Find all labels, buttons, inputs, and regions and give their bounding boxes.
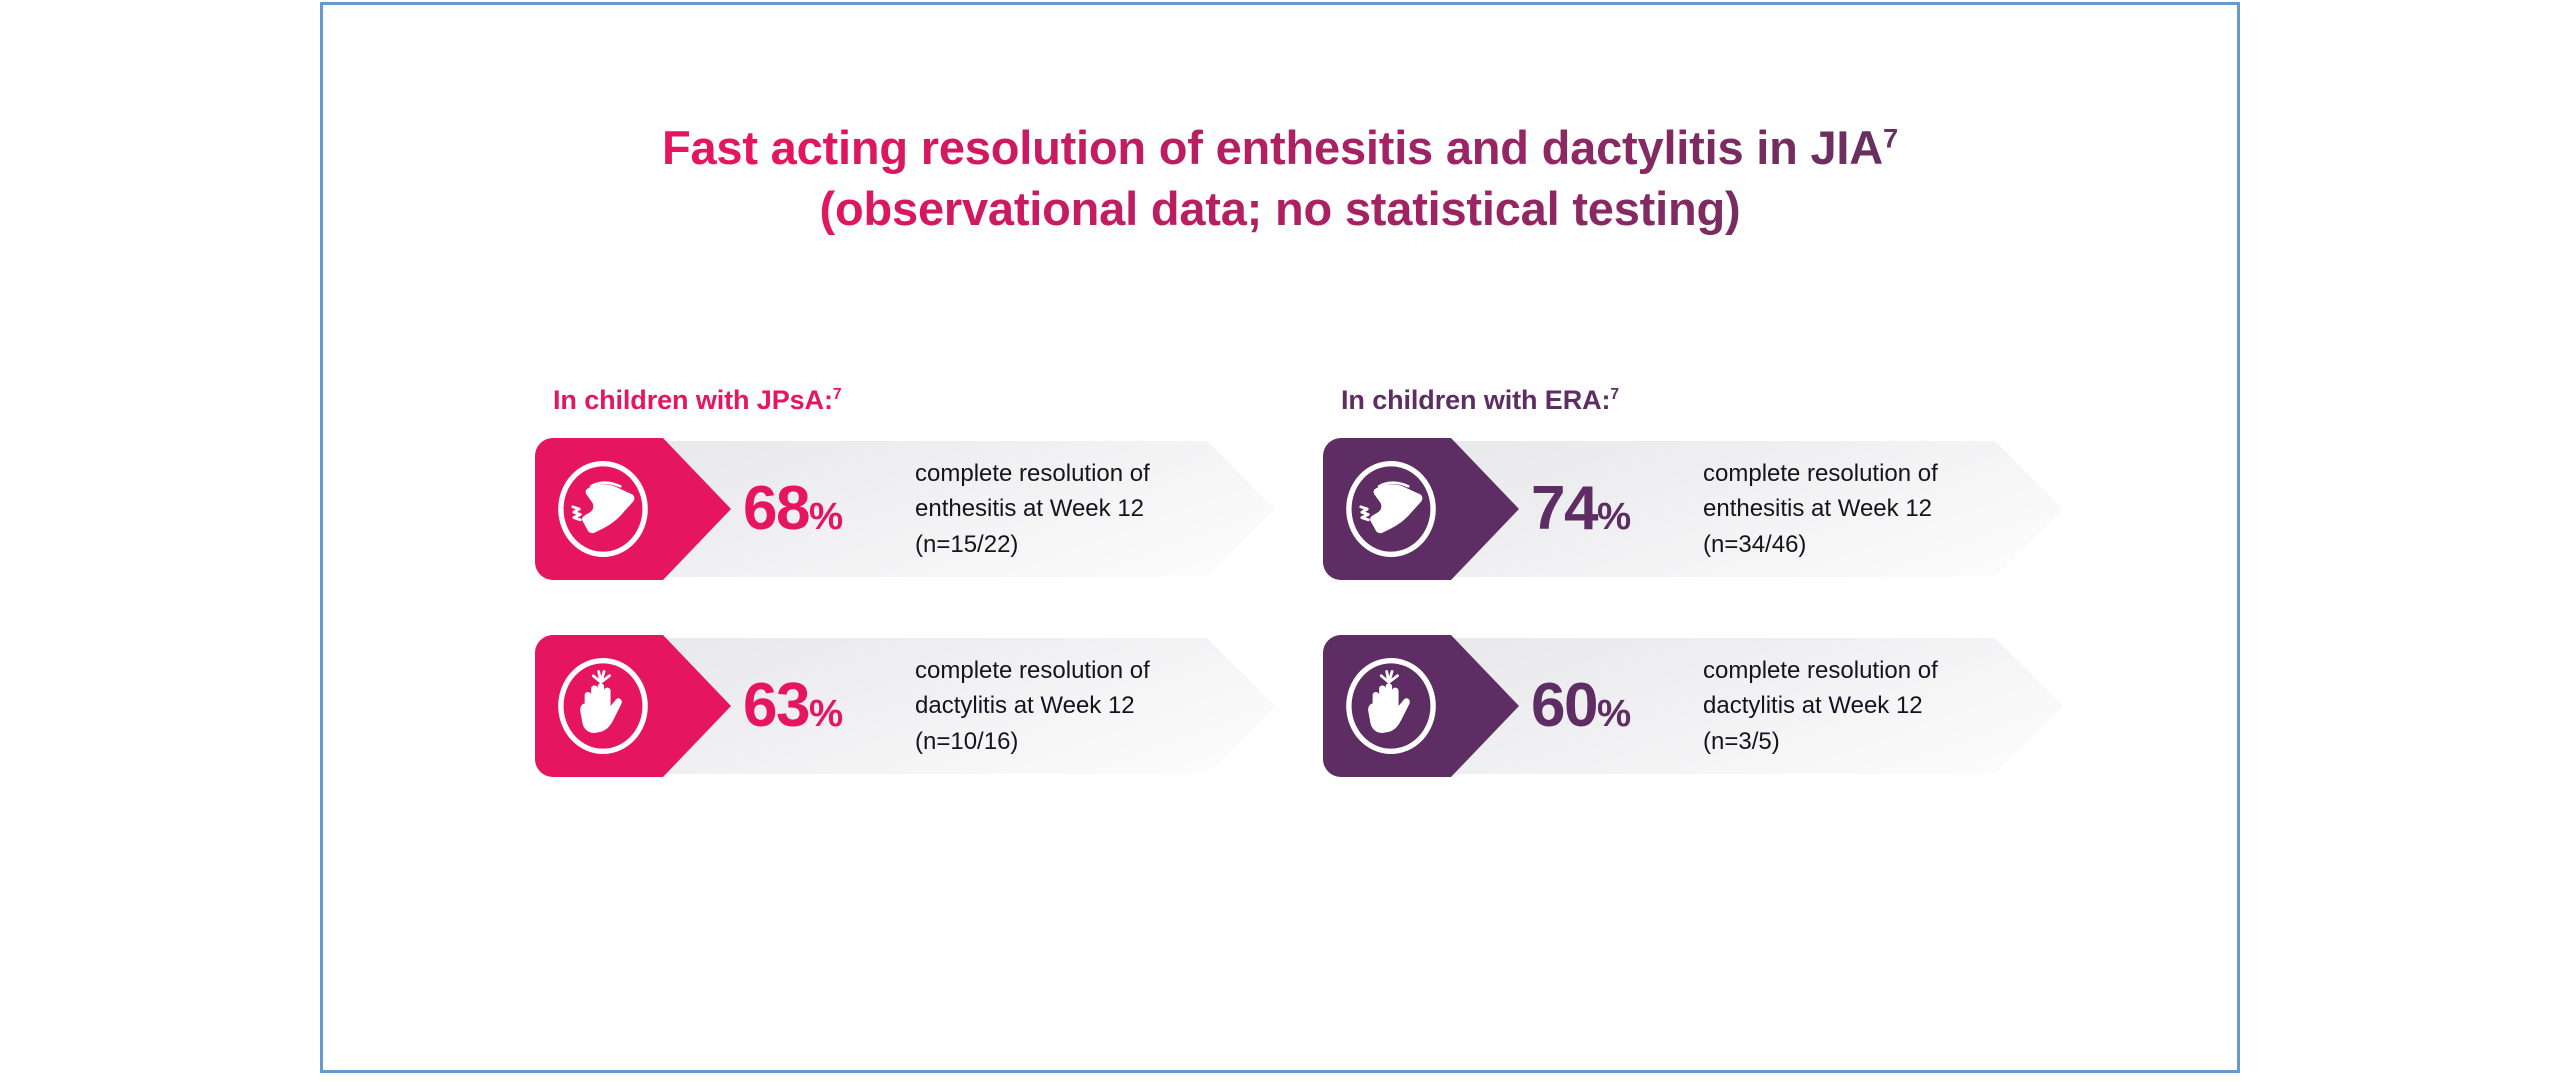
stat-card-percent-sign: % bbox=[1597, 495, 1630, 538]
stat-card-jpsa-enthesitis[interactable]: 68% complete resolution of enthesitis at… bbox=[535, 438, 1275, 580]
stat-card-percent-value: 63 bbox=[743, 671, 809, 740]
stat-card-percent-sign: % bbox=[809, 692, 842, 735]
dactylitis-hand-icon bbox=[549, 652, 657, 760]
page-title: Fast acting resolution of enthesitis and… bbox=[323, 117, 2237, 239]
stat-card-sample-size: (n=3/5) bbox=[1703, 724, 2003, 759]
column-era-heading: In children with ERA:7 bbox=[1341, 385, 2083, 416]
stat-card-description: complete resolution of enthesitis at Wee… bbox=[915, 456, 1215, 562]
stat-card-description-line-2: enthesitis at Week 12 bbox=[915, 491, 1215, 526]
enthesitis-icon bbox=[549, 455, 657, 563]
stat-card-percent-value: 60 bbox=[1531, 671, 1597, 740]
stat-card-description-line-1: complete resolution of bbox=[1703, 456, 2003, 491]
page-title-line-1: Fast acting resolution of enthesitis and… bbox=[323, 117, 2237, 178]
stat-card-description-line-1: complete resolution of bbox=[1703, 653, 2003, 688]
stat-card-description: complete resolution of dactylitis at Wee… bbox=[1703, 653, 2003, 759]
stat-card-percent-sign: % bbox=[809, 495, 842, 538]
stat-card-sample-size: (n=10/16) bbox=[915, 724, 1215, 759]
stat-card-description-line-1: complete resolution of bbox=[915, 456, 1215, 491]
page-title-line-1-superscript: 7 bbox=[1883, 122, 1898, 153]
stat-card-description-line-2: enthesitis at Week 12 bbox=[1703, 491, 2003, 526]
column-jpsa-heading-superscript: 7 bbox=[833, 386, 842, 403]
stat-card-description: complete resolution of dactylitis at Wee… bbox=[915, 653, 1215, 759]
stat-card-era-dactylitis[interactable]: 60% complete resolution of dactylitis at… bbox=[1323, 635, 2063, 777]
stat-card-description: complete resolution of enthesitis at Wee… bbox=[1703, 456, 2003, 562]
stat-card-era-enthesitis[interactable]: 74% complete resolution of enthesitis at… bbox=[1323, 438, 2063, 580]
column-era-heading-superscript: 7 bbox=[1610, 386, 1619, 403]
stat-card-percent: 60% bbox=[1531, 675, 1630, 737]
column-jpsa-heading-text: In children with JPsA: bbox=[553, 385, 833, 415]
stat-card-percent-value: 74 bbox=[1531, 474, 1597, 543]
page-title-line-2: (observational data; no statistical test… bbox=[323, 178, 2237, 239]
stat-card-jpsa-dactylitis[interactable]: 63% complete resolution of dactylitis at… bbox=[535, 635, 1275, 777]
stat-card-percent: 74% bbox=[1531, 478, 1630, 540]
dactylitis-hand-icon bbox=[1337, 652, 1445, 760]
stat-card-percent-value: 68 bbox=[743, 474, 809, 543]
slide-frame: Fast acting resolution of enthesitis and… bbox=[320, 2, 2240, 1073]
stat-card-description-line-1: complete resolution of bbox=[915, 653, 1215, 688]
stat-card-description-line-2: dactylitis at Week 12 bbox=[915, 688, 1215, 723]
enthesitis-icon bbox=[1337, 455, 1445, 563]
column-jpsa-heading: In children with JPsA:7 bbox=[553, 385, 1295, 416]
column-jpsa: In children with JPsA:7 68% complete res… bbox=[535, 385, 1295, 832]
stat-card-description-line-2: dactylitis at Week 12 bbox=[1703, 688, 2003, 723]
stat-card-percent: 68% bbox=[743, 478, 842, 540]
stat-card-percent: 63% bbox=[743, 675, 842, 737]
stat-card-percent-sign: % bbox=[1597, 692, 1630, 735]
column-era: In children with ERA:7 74% complete reso… bbox=[1323, 385, 2083, 832]
column-era-heading-text: In children with ERA: bbox=[1341, 385, 1610, 415]
stat-card-sample-size: (n=15/22) bbox=[915, 527, 1215, 562]
page-title-line-1-text: Fast acting resolution of enthesitis and… bbox=[662, 121, 1883, 174]
stat-card-sample-size: (n=34/46) bbox=[1703, 527, 2003, 562]
